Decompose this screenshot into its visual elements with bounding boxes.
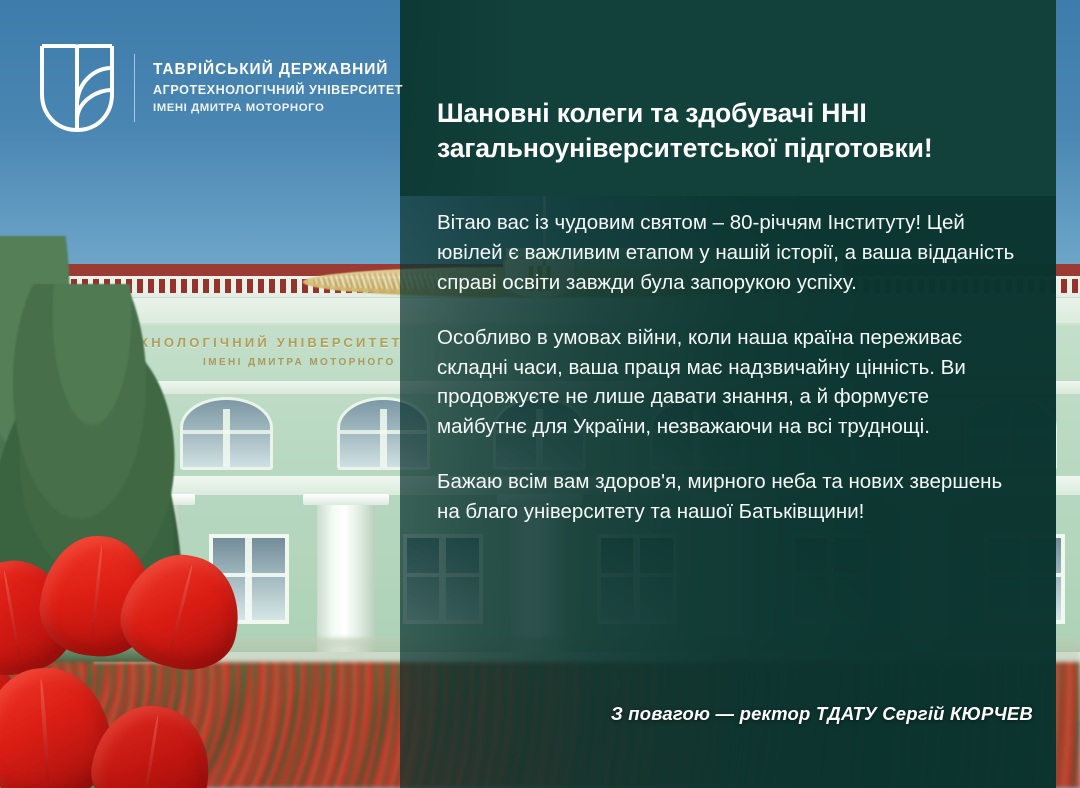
signature-line: З повагою — ректор ТДАТУ Сергій КЮРЧЕВ: [437, 703, 1033, 725]
page-title: Шановні колеги та здобувачі ННІ загально…: [437, 96, 1017, 166]
tulip-bloom: [85, 698, 218, 788]
logo-line-3: ІМЕНІ ДМИТРА МОТОРНОГО: [153, 102, 403, 115]
logo-line-2: АГРОТЕХНОЛОГІЧНИЙ УНІВЕРСИТЕТ: [153, 83, 403, 97]
logo-line-1: ТАВРІЙСЬКИЙ ДЕРЖАВНИЙ: [153, 61, 403, 79]
logo-wordmark: ТАВРІЙСЬКИЙ ДЕРЖАВНИЙ АГРОТЕХНОЛОГІЧНИЙ …: [153, 61, 403, 114]
red-tulips-icon: [0, 504, 378, 788]
message-paragraph: Особливо в умовах війни, коли наша країн…: [437, 323, 1017, 441]
university-logo: ТАВРІЙСЬКИЙ ДЕРЖАВНИЙ АГРОТЕХНОЛОГІЧНИЙ …: [38, 42, 403, 134]
message-body: Вітаю вас із чудовим святом – 80-річчям …: [437, 208, 1037, 526]
message-paragraph: Вітаю вас із чудовим святом – 80-річчям …: [437, 208, 1017, 297]
message-block: Шановні колеги та здобувачі ННІ загально…: [437, 96, 1037, 526]
leaf-book-logo-icon: [38, 42, 116, 134]
logo-divider: [134, 54, 135, 122]
message-paragraph: Бажаю всім вам здоров'я, мирного неба та…: [437, 467, 1017, 526]
greeting-poster: АГРОТЕХНОЛОГІЧНИЙ УНІВЕРСИТЕТ ІМЕНІ ДМИТ…: [0, 0, 1080, 788]
